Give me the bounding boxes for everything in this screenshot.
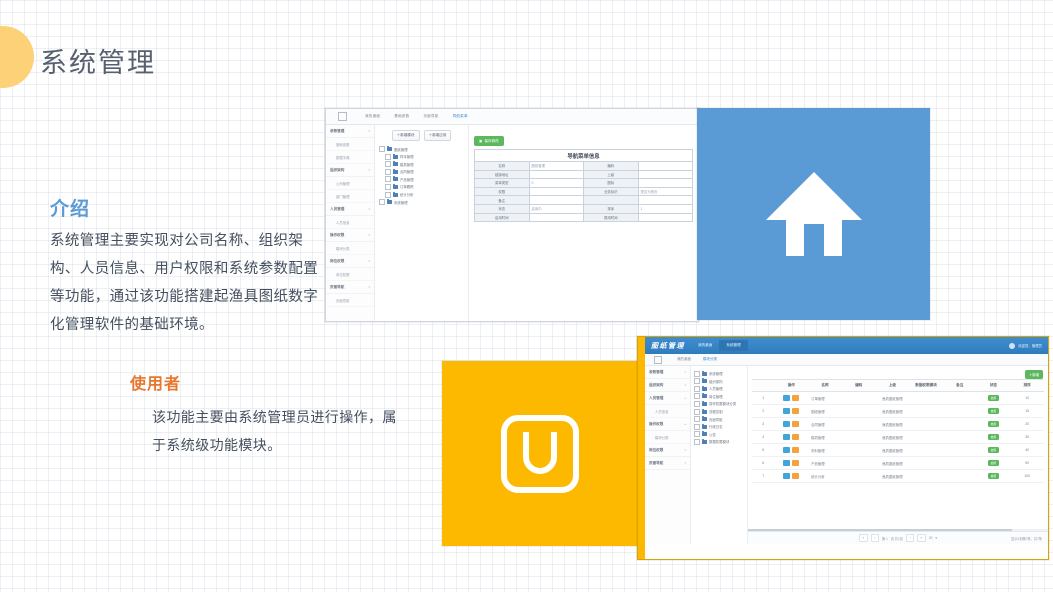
tree-node-label: 流程控制 [709, 409, 723, 414]
intro-body: 系统管理主要实现对公司名称、组织架构、人员信息、用户权限和系统参数配置等功能，通… [50, 227, 322, 339]
tree-node-label: 组织架构 [709, 379, 723, 384]
tree-node-label: 人员管理 [709, 386, 723, 391]
field-label [584, 196, 639, 205]
cell-parent: 渔具图纸管理 [876, 444, 910, 457]
tree-toggle-icon[interactable] [694, 401, 700, 407]
sidebar-group-page-nav[interactable]: 页面导航 ▾ [326, 281, 374, 294]
sidebar-group-params[interactable]: 参数管理 ▾ [326, 125, 374, 138]
cell-parent: 渔具图纸管理 [876, 457, 910, 470]
column-header[interactable]: 备注 [943, 380, 977, 392]
tree-node[interactable]: 系统管理 [694, 371, 744, 377]
bottom-sidebar: 参数管理 ▾ 组织架构 ▾ 人员管理 ▴ 人员信息 操作权限 ▴ 模块分类 岗位… [645, 366, 691, 544]
chevron-down-icon: ▾ [368, 233, 370, 237]
cell-memo [943, 444, 977, 457]
row-actions[interactable] [774, 431, 808, 444]
module-table-pane: ＋新增 操作名称编码上级数据权限模块备注状态排序 1订单管理渔具图纸管理启用10… [748, 366, 1048, 544]
cell-data-module [909, 392, 943, 405]
tab-page-nav[interactable]: 页面导航 [416, 114, 445, 119]
table-header-row: 操作名称编码上级数据权限模块备注状态排序 [752, 380, 1044, 392]
field-value[interactable]: 是否为首页 [638, 187, 693, 196]
chevron-up-icon: ▴ [684, 422, 686, 426]
tree-node[interactable]: 订单跟踪 [379, 184, 464, 190]
user-heading: 使用者 [130, 370, 181, 394]
cell-code [842, 392, 876, 405]
form-row: 启用时间禁用时间 [475, 213, 693, 222]
tree-toggle-icon[interactable] [694, 424, 700, 430]
field-value[interactable] [638, 179, 693, 188]
cell-memo [943, 457, 977, 470]
tree-toggle-icon[interactable] [694, 416, 700, 422]
field-value[interactable] [529, 196, 584, 205]
cell-memo [943, 392, 977, 405]
form-row: 权限业务标识是否为首页 [475, 187, 693, 196]
folder-icon [702, 394, 707, 398]
account-label: 欢迎您，管理员 [1018, 343, 1042, 348]
sidebar-group-label: 操作权限 [649, 422, 663, 427]
cell-name: 图纸管理 [808, 405, 842, 418]
cell-parent: 渔具图纸管理 [876, 405, 910, 418]
edit-icon[interactable] [792, 473, 799, 479]
row-actions[interactable] [774, 457, 808, 470]
table-row[interactable]: 4模具管理渔具图纸管理启用30 [752, 431, 1044, 444]
tree-node-label: 图纸管理 [394, 147, 408, 152]
sidebar-group-label: 页面导航 [649, 461, 663, 466]
cell-code [842, 457, 876, 470]
cell-code [842, 470, 876, 483]
table-row[interactable]: 7统计分析渔具图纸管理启用100 [752, 470, 1044, 483]
page-prev-button[interactable]: ‹ [871, 534, 879, 542]
folder-icon [702, 432, 707, 436]
edit-icon[interactable] [792, 460, 799, 466]
module-tree-pane: ＋新增模块 ＋新增应用 图纸管理样本管理模具管理合同管理产品管理订单跟踪统计分析… [375, 125, 469, 322]
tree-node-label: 页面导航 [709, 417, 723, 422]
field-value[interactable] [638, 196, 693, 205]
status-badge-cell: 启用 [977, 392, 1011, 405]
sidebar-group-org[interactable]: 组织架构 ▾ [645, 379, 690, 392]
chevron-down-icon: ▾ [935, 536, 937, 540]
sidebar-group-label: 岗位权限 [649, 448, 663, 453]
avatar [1009, 343, 1015, 349]
sub-tabbar: 我的桌面 模块分类 [645, 354, 1048, 366]
top-sidebar: 参数管理 ▾ 基础参数 数据字典 组织架构 ▾ 公司管理 部门管理 人员管理 ▾… [326, 125, 375, 322]
status-badge-cell: 启用 [977, 470, 1011, 483]
chevron-down-icon: ▾ [368, 207, 370, 211]
table-row[interactable]: 5布料管理渔具图纸管理启用40 [752, 444, 1044, 457]
bag-icon-panel [442, 361, 638, 546]
cell-parent: 渔具图纸管理 [876, 470, 910, 483]
cell-name: 布料管理 [808, 444, 842, 457]
table-row[interactable]: 6产品管理渔具图纸管理启用50 [752, 457, 1044, 470]
tree-node-label: 产品管理 [400, 177, 414, 182]
tree-toggle-icon[interactable] [694, 378, 700, 384]
edit-icon[interactable] [792, 447, 799, 453]
cell-memo [943, 405, 977, 418]
home-icon [764, 168, 864, 260]
row-actions[interactable] [774, 470, 808, 483]
sidebar-group-op-perm[interactable]: 操作权限 ▴ [645, 418, 690, 431]
tab-nav-menu[interactable]: 导航菜单 [446, 114, 475, 119]
app-logo: 图纸管理 [645, 341, 691, 351]
table-row[interactable]: 3合同管理渔具图纸管理启用20 [752, 418, 1044, 431]
cell-sort: 30 [1010, 431, 1044, 444]
cell-data-module [909, 431, 943, 444]
edit-icon[interactable] [792, 421, 799, 427]
cell-name: 订单管理 [808, 392, 842, 405]
cell-name: 合同管理 [808, 418, 842, 431]
sidebar-group-label: 组织架构 [649, 383, 663, 388]
form-row: 链接地址上级 [475, 170, 693, 179]
edit-icon[interactable] [792, 434, 799, 440]
field-value[interactable] [638, 213, 693, 222]
folder-icon [387, 200, 392, 204]
cell-data-module [909, 444, 943, 457]
tree-node-label: 行政日志 [709, 424, 723, 429]
form-row: 状态启用中排序1 [475, 204, 693, 213]
tree-toggle-icon[interactable] [694, 439, 700, 445]
tab-desktop[interactable]: 我的桌面 [358, 114, 387, 119]
row-actions[interactable] [774, 418, 808, 431]
save-button[interactable]: ▣ 保存修改 [474, 136, 504, 146]
row-index: 4 [752, 431, 774, 444]
top-body: 参数管理 ▾ 基础参数 数据字典 组织架构 ▾ 公司管理 部门管理 人员管理 ▾… [326, 125, 698, 322]
subtab-module-class[interactable]: 模块分类 [697, 357, 723, 362]
tree-node[interactable]: 合同管理 [379, 169, 464, 175]
column-header[interactable] [752, 380, 774, 392]
folder-icon [702, 417, 707, 421]
status-badge: 启用 [988, 447, 1000, 453]
sidebar-item-page-nav[interactable]: 页面导航 [326, 294, 374, 307]
tree-node-label: 系统管理 [709, 371, 723, 376]
account-area[interactable]: 欢迎您，管理员 [1009, 343, 1048, 349]
tree-toggle-icon[interactable] [385, 169, 391, 175]
tree-node-label: 公告 [709, 432, 716, 437]
folder-icon [393, 185, 398, 189]
view-icon[interactable] [783, 395, 790, 401]
view-icon[interactable] [783, 408, 790, 414]
column-header[interactable]: 操作 [774, 380, 808, 392]
tree-node-label: 数据权限模块 [709, 439, 729, 444]
sidebar-group-label: 岗位权限 [330, 259, 344, 264]
page-size-select[interactable]: 20 [929, 536, 933, 540]
status-badge: 启用 [988, 408, 1000, 414]
screenshot-nav-menu-admin: 我的桌面 基础参数 页面导航 导航菜单 参数管理 ▾ 基础参数 数据字典 组织架… [325, 108, 699, 322]
pagination-bar: « ‹ 第 1 页 共1页 › » 20 ▾ 显示1到第7条，共7条 [748, 531, 1048, 544]
tree-node[interactable]: 产品管理 [379, 176, 464, 182]
tree-node[interactable]: 组织架构 [694, 378, 744, 384]
row-actions[interactable] [774, 392, 808, 405]
tree-node-label: 订单跟踪 [400, 184, 414, 189]
tree-node-label: 样本管理 [400, 154, 414, 159]
cell-code [842, 444, 876, 457]
view-icon[interactable] [783, 460, 790, 466]
column-header[interactable]: 排序 [1010, 380, 1044, 392]
field-label: 链接地址 [475, 170, 530, 179]
field-label: 状态 [475, 204, 530, 213]
tree-node-label: 统计分析 [400, 192, 414, 197]
tree-toggle-icon[interactable] [385, 154, 391, 160]
intro-heading: 介绍 [50, 194, 90, 221]
sidebar-group-label: 人员管理 [649, 396, 663, 401]
tab-basic-params[interactable]: 基础参数 [387, 114, 416, 119]
status-badge: 启用 [988, 421, 1000, 427]
add-app-button[interactable]: ＋新增应用 [424, 130, 452, 141]
subtab-desktop[interactable]: 我的桌面 [671, 357, 697, 362]
tree-toggle-icon[interactable] [694, 371, 700, 377]
view-icon[interactable] [783, 421, 790, 427]
cell-name: 统计分析 [808, 470, 842, 483]
tree-toggle-icon[interactable] [694, 431, 700, 437]
save-button-label: 保存修改 [484, 139, 498, 144]
column-header[interactable]: 状态 [977, 380, 1011, 392]
category-tree: 系统管理组织架构人员管理岗位管理操作权限模块分类流程控制页面导航行政日志公告数据… [691, 366, 748, 544]
tree-node[interactable]: 数据权限模块 [694, 439, 744, 445]
sidebar-group-label: 组织架构 [330, 168, 344, 173]
cell-code [842, 405, 876, 418]
form-row: 备注 [475, 196, 693, 205]
field-value[interactable]: 1 [638, 204, 693, 213]
tree-node[interactable]: 人员管理 [694, 386, 744, 392]
status-badge-cell: 启用 [977, 444, 1011, 457]
cell-sort: 100 [1010, 470, 1044, 483]
cell-data-module [909, 470, 943, 483]
tree-node-label: 合同管理 [400, 169, 414, 174]
field-label: 上级 [584, 170, 639, 179]
row-actions[interactable] [774, 444, 808, 457]
field-label: 业务标识 [584, 187, 639, 196]
status-badge: 启用 [988, 395, 1000, 401]
field-label: 权限 [475, 187, 530, 196]
cell-data-module [909, 418, 943, 431]
folder-icon [393, 170, 398, 174]
add-button[interactable]: ＋新增 [1025, 370, 1043, 379]
field-value[interactable]: 启用中 [529, 204, 584, 213]
tree-node[interactable]: 流程控制 [694, 409, 744, 415]
form-row: 名称图纸管理编码 [475, 162, 693, 171]
folder-icon [702, 410, 707, 414]
sidebar-item-basic-params[interactable]: 基础参数 [326, 138, 374, 151]
cell-name: 产品管理 [808, 457, 842, 470]
column-header[interactable]: 编码 [842, 380, 876, 392]
cell-sort: 20 [1010, 418, 1044, 431]
home-icon-panel [697, 108, 930, 320]
folder-icon [702, 440, 707, 444]
page-last-button[interactable]: » [917, 534, 926, 542]
sidebar-group-op-perm[interactable]: 操作权限 ▾ [326, 229, 374, 242]
tree-toggle-icon[interactable] [385, 161, 391, 167]
module-tree: 图纸管理样本管理模具管理合同管理产品管理订单跟踪统计分析系统管理 [379, 146, 464, 205]
status-badge: 启用 [988, 434, 1000, 440]
cell-memo [943, 418, 977, 431]
form-caption: 导航菜单信息 [475, 150, 693, 162]
sidebar-group-personnel[interactable]: 人员管理 ▾ [326, 203, 374, 216]
column-header[interactable]: 名称 [808, 380, 842, 392]
sidebar-item-dictionary[interactable]: 数据字典 [326, 151, 374, 164]
app-header: 图纸管理 我的桌面 系统管理 欢迎您，管理员 [645, 337, 1048, 354]
tree-node[interactable]: 公告 [694, 431, 744, 437]
sidebar-collapse-icon[interactable] [645, 356, 671, 364]
field-value[interactable] [638, 162, 693, 171]
chevron-down-icon: ▾ [684, 448, 686, 452]
sidebar-item-company[interactable]: 公司管理 [326, 177, 374, 190]
field-value[interactable] [529, 170, 584, 179]
tree-toggle-icon[interactable] [694, 393, 700, 399]
page-total-label: 页 共1页 [891, 536, 903, 541]
tree-toggle-icon[interactable] [385, 184, 391, 190]
field-value[interactable] [529, 213, 584, 222]
tree-node-label: 系统管理 [394, 200, 408, 205]
field-value[interactable] [638, 170, 693, 179]
status-badge: 启用 [988, 473, 1000, 479]
tree-node-label: 操作权限模块分类 [709, 401, 736, 406]
chevron-down-icon: ▾ [368, 168, 370, 172]
form-row: 菜单类型0图标 [475, 179, 693, 188]
field-label: 图标 [584, 179, 639, 188]
sidebar-group-org[interactable]: 组织架构 ▾ [326, 164, 374, 177]
page-number-label: 第 1 [882, 536, 888, 541]
folder-icon [393, 177, 398, 181]
field-value[interactable] [529, 187, 584, 196]
status-badge-cell: 启用 [977, 418, 1011, 431]
chevron-down-icon: ▾ [684, 461, 686, 465]
bottom-inner: 图纸管理 我的桌面 系统管理 欢迎您，管理员 我的桌面 模块分类 参数管理 ▾ … [645, 337, 1048, 559]
record-count-label: 显示1到第7条，共7条 [1011, 536, 1042, 541]
sidebar-group-label: 参数管理 [330, 129, 344, 134]
header-tab-desktop[interactable]: 我的桌面 [691, 340, 719, 351]
field-value[interactable]: 0 [529, 179, 584, 188]
cell-memo [943, 431, 977, 444]
sidebar-group-page-nav[interactable]: 页面导航 ▾ [645, 457, 690, 470]
view-icon[interactable] [783, 447, 790, 453]
cell-code [842, 431, 876, 444]
tree-toggle-icon[interactable] [385, 192, 391, 198]
page-first-button[interactable]: « [859, 534, 868, 542]
cell-sort: 10 [1010, 392, 1044, 405]
folder-icon [702, 425, 707, 429]
tree-node[interactable]: 样本管理 [379, 154, 464, 160]
tree-node[interactable]: 行政日志 [694, 424, 744, 430]
row-index: 7 [752, 470, 774, 483]
nav-menu-info-table: 导航菜单信息名称图纸管理编码链接地址上级菜单类型0图标权限业务标识是否为首页备注… [474, 149, 693, 222]
tree-node[interactable]: 操作权限模块分类 [694, 401, 744, 407]
row-index: 2 [752, 405, 774, 418]
edit-icon[interactable] [792, 408, 799, 414]
table-row[interactable]: 1订单管理渔具图纸管理启用10 [752, 392, 1044, 405]
tree-node[interactable]: 模具管理 [379, 161, 464, 167]
cell-sort: 15 [1010, 405, 1044, 418]
folder-icon [387, 147, 392, 151]
sidebar-item-department[interactable]: 部门管理 [326, 190, 374, 203]
status-badge-cell: 启用 [977, 457, 1011, 470]
sidebar-item-personnel-info[interactable]: 人员信息 [645, 405, 690, 418]
cell-sort: 40 [1010, 444, 1044, 457]
tree-node[interactable]: 页面导航 [694, 416, 744, 422]
field-label: 禁用时间 [584, 213, 639, 222]
field-label: 备注 [475, 196, 530, 205]
row-actions[interactable] [774, 405, 808, 418]
folder-icon [702, 372, 707, 376]
cell-data-module [909, 405, 943, 418]
view-icon[interactable] [783, 473, 790, 479]
save-icon: ▣ [479, 139, 482, 143]
sidebar-group-label: 参数管理 [649, 370, 663, 375]
edit-icon[interactable] [792, 395, 799, 401]
accent-bar [638, 337, 645, 559]
folder-icon [702, 387, 707, 391]
header-tab-system[interactable]: 系统管理 [719, 340, 747, 351]
screenshot-module-list: 图纸管理 我的桌面 系统管理 欢迎您，管理员 我的桌面 模块分类 参数管理 ▾ … [637, 336, 1049, 560]
field-label: 启用时间 [475, 213, 530, 222]
row-index: 1 [752, 392, 774, 405]
field-value[interactable]: 图纸管理 [529, 162, 584, 171]
sidebar-group-post-perm[interactable]: 岗位权限 ▾ [645, 444, 690, 457]
status-badge-cell: 启用 [977, 405, 1011, 418]
column-header[interactable]: 数据权限模块 [909, 380, 943, 392]
chevron-down-icon: ▾ [368, 129, 370, 133]
sidebar-collapse-icon[interactable] [326, 112, 358, 121]
tree-toggle-icon[interactable] [694, 409, 700, 415]
sidebar-item-module-class[interactable]: 模块分类 [326, 242, 374, 255]
tree-node[interactable]: 统计分析 [379, 192, 464, 198]
field-label: 菜单类型 [475, 179, 530, 188]
page-next-button[interactable]: › [906, 534, 914, 542]
cell-parent: 渔具图纸管理 [876, 392, 910, 405]
tree-node-label: 模具管理 [400, 162, 414, 167]
chevron-down-icon: ▾ [684, 370, 686, 374]
sidebar-item-post-perm[interactable]: 岗位权限 [326, 268, 374, 281]
chevron-down-icon: ▾ [368, 285, 370, 289]
page-title: 系统管理 [40, 41, 156, 80]
cell-parent: 渔具图纸管理 [876, 431, 910, 444]
sidebar-group-label: 操作权限 [330, 233, 344, 238]
tree-toolbar: ＋新增模块 ＋新增应用 [379, 130, 464, 141]
tree-toggle-icon[interactable] [379, 146, 385, 152]
tree-toggle-icon[interactable] [379, 199, 385, 205]
cell-data-module [909, 457, 943, 470]
nav-menu-form-pane: ▣ 保存修改 导航菜单信息名称图纸管理编码链接地址上级菜单类型0图标权限业务标识… [469, 125, 698, 322]
sidebar-group-params[interactable]: 参数管理 ▾ [645, 366, 690, 379]
field-label: 名称 [475, 162, 530, 171]
sidebar-item-module-class[interactable]: 模块分类 [645, 431, 690, 444]
chevron-down-icon: ▾ [368, 259, 370, 263]
tree-toggle-icon[interactable] [694, 386, 700, 392]
tree-toggle-icon[interactable] [385, 176, 391, 182]
field-label: 排序 [584, 204, 639, 213]
tree-node-label: 岗位管理 [709, 394, 723, 399]
tree-node[interactable]: 图纸管理 [379, 146, 464, 152]
folder-icon [393, 162, 398, 166]
cell-memo [943, 470, 977, 483]
tree-node[interactable]: 岗位管理 [694, 393, 744, 399]
add-module-button[interactable]: ＋新增模块 [392, 130, 420, 141]
cell-name: 模具管理 [808, 431, 842, 444]
tree-node[interactable]: 系统管理 [379, 199, 464, 205]
module-table: 操作名称编码上级数据权限模块备注状态排序 1订单管理渔具图纸管理启用102图纸管… [752, 379, 1044, 483]
column-header[interactable]: 上级 [876, 380, 910, 392]
sidebar-group-personnel[interactable]: 人员管理 ▴ [645, 392, 690, 405]
view-icon[interactable] [783, 434, 790, 440]
folder-icon [393, 193, 398, 197]
status-badge-cell: 启用 [977, 431, 1011, 444]
status-badge: 启用 [988, 460, 1000, 466]
folder-icon [702, 402, 707, 406]
bag-icon [499, 413, 581, 495]
cell-parent: 渔具图纸管理 [876, 418, 910, 431]
field-label: 编码 [584, 162, 639, 171]
table-row[interactable]: 2图纸管理渔具图纸管理启用15 [752, 405, 1044, 418]
sidebar-item-personnel-info[interactable]: 人员信息 [326, 216, 374, 229]
sidebar-group-post-perm[interactable]: 岗位权限 ▾ [326, 255, 374, 268]
row-index: 5 [752, 444, 774, 457]
